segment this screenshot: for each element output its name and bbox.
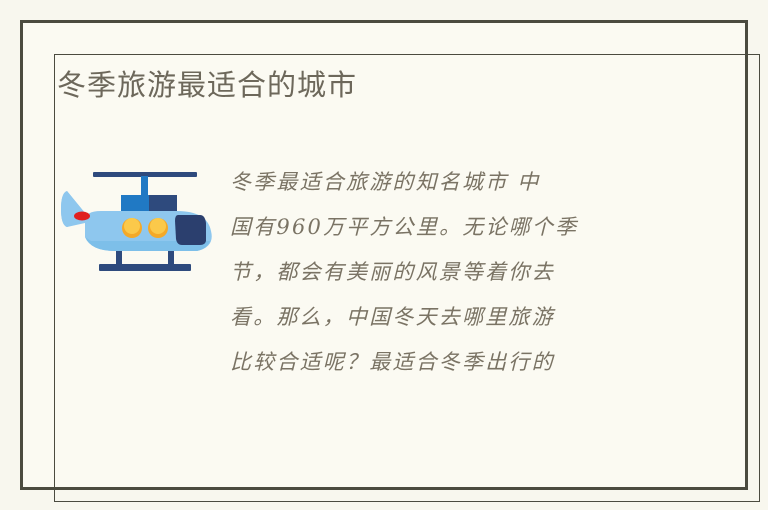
cockpit-window [175,215,206,245]
tail-light-icon [74,212,90,221]
rotor-mast [141,176,148,196]
article-line: 看。那么，中国冬天去哪里旅游 [230,295,670,340]
page-canvas: 冬季旅游最适合的城市 [0,0,768,510]
article-line: 国有960万平方公里。无论哪个季 [230,205,670,250]
engine-housing-light [121,195,149,211]
content-row: 冬季最适合旅游的知名城市 中 国有960万平方公里。无论哪个季 节，都会有美丽的… [45,160,725,410]
article-text-block: 冬季最适合旅游的知名城市 中 国有960万平方公里。无论哪个季 节，都会有美丽的… [230,160,670,385]
passenger-window-2-glass [150,218,166,234]
helicopter-illustration [55,165,225,280]
landing-skid [99,264,191,271]
engine-housing-dark [149,195,177,211]
article-line: 比较合适呢？最适合冬季出行的 [230,340,670,385]
article-line: 节，都会有美丽的风景等着你去 [230,250,670,295]
page-title: 冬季旅游最适合的城市 [57,66,357,106]
skid-strut-left [116,251,122,265]
tail-boom [61,191,85,227]
article-line: 冬季最适合旅游的知名城市 中 [230,160,670,205]
skid-strut-right [168,251,174,265]
passenger-window-1-glass [124,218,140,234]
